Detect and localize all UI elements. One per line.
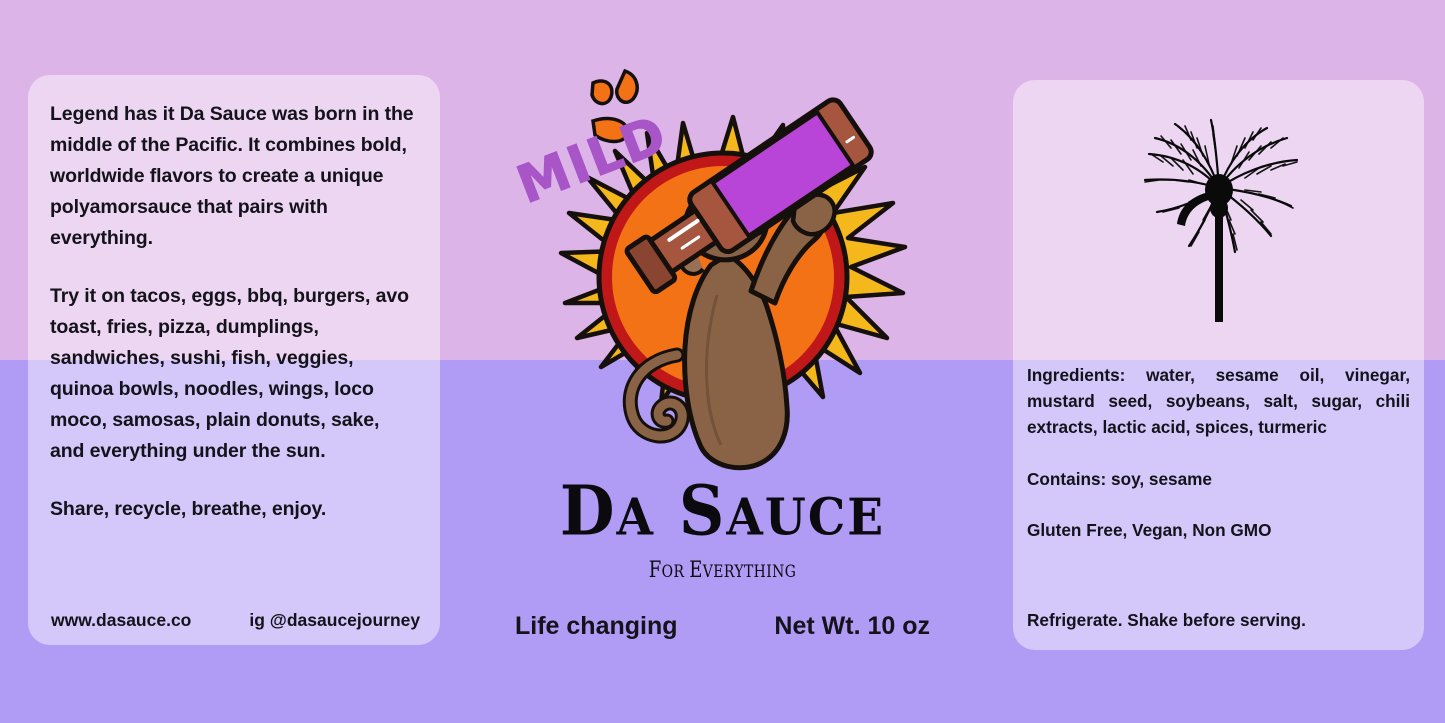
net-weight: Net Wt. 10 oz — [774, 612, 930, 641]
story-text: Legend has it Da Sauce was born in the m… — [50, 99, 418, 525]
brand-name: DA SAUCE — [465, 477, 980, 552]
ingredients-text: Ingredients: water, sesame oil, vinegar,… — [1027, 362, 1410, 440]
center-illustration — [465, 55, 980, 475]
story-paragraph-1: Legend has it Da Sauce was born in the m… — [50, 99, 418, 254]
tagline-every-rest: VERYTHING — [703, 562, 797, 582]
tagline-for-cap: F — [649, 558, 662, 583]
storage-instructions: Refrigerate. Shake before serving. — [1013, 610, 1424, 631]
brand-word-sauce-cap: S — [679, 471, 727, 551]
tagline-for-rest: OR — [662, 562, 690, 582]
story-panel: Legend has it Da Sauce was born in the m… — [28, 75, 440, 645]
tagline-every-cap: E — [689, 558, 703, 583]
story-paragraph-2: Try it on tacos, eggs, bbq, burgers, avo… — [50, 281, 418, 467]
brand-word-da-rest: A — [617, 488, 655, 547]
website-link[interactable]: www.dasauce.co — [51, 610, 191, 631]
nutrition-info: Ingredients: water, sesame oil, vinegar,… — [1013, 362, 1424, 543]
slogan: Life changing — [515, 612, 678, 641]
brand-word-da-cap: D — [560, 471, 617, 551]
allergen-text: Contains: soy, sesame — [1027, 466, 1410, 492]
bottom-info-row: Life changing Net Wt. 10 oz — [465, 612, 980, 641]
contact-row: www.dasauce.co ig @dasaucejourney — [28, 610, 440, 631]
dietary-claims: Gluten Free, Vegan, Non GMO — [1027, 517, 1410, 543]
story-paragraph-3: Share, recycle, breathe, enjoy. — [50, 494, 418, 525]
instagram-handle[interactable]: ig @dasaucejourney — [249, 610, 420, 631]
brand-word-sauce-rest: AUCE — [726, 488, 885, 547]
product-label: Legend has it Da Sauce was born in the m… — [0, 0, 1445, 723]
brand-tagline: FOR EVERYTHING — [511, 558, 933, 583]
palm-tree-icon — [1013, 80, 1424, 358]
brand-block: DA SAUCE FOR EVERYTHING — [465, 480, 980, 583]
